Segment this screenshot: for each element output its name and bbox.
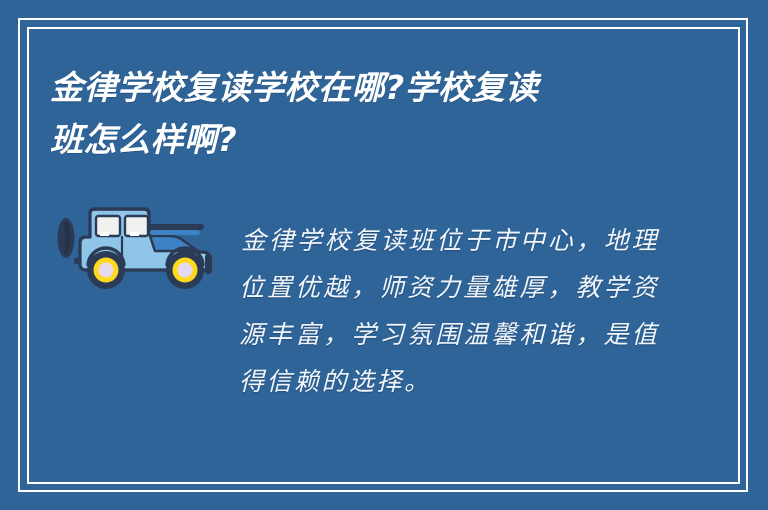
spare-tire-icon xyxy=(58,218,75,258)
poster-canvas: 金律学校复读学校在哪?学校复读 班怎么样啊? xyxy=(0,0,768,510)
page-title: 金律学校复读学校在哪?学校复读 班怎么样啊? xyxy=(50,62,660,166)
content-row: 金律学校复读班位于市中心，地理位置优越，师资力量雄厚，教学资源丰富，学习氛围温馨… xyxy=(50,192,690,430)
jeep-illustration xyxy=(50,192,225,296)
front-wheel-icon xyxy=(166,251,204,289)
title-line-1: 金律学校复读学校在哪?学校复读 xyxy=(50,62,660,114)
title-line-2: 班怎么样啊? xyxy=(50,114,660,166)
body-paragraph: 金律学校复读班位于市中心，地理位置优越，师资力量雄厚，教学资源丰富，学习氛围温馨… xyxy=(239,217,659,405)
jeep-icon xyxy=(50,196,225,296)
body-text-block: 金律学校复读班位于市中心，地理位置优越，师资力量雄厚，教学资源丰富，学习氛围温馨… xyxy=(225,192,690,430)
rear-wheel-icon xyxy=(87,251,125,289)
